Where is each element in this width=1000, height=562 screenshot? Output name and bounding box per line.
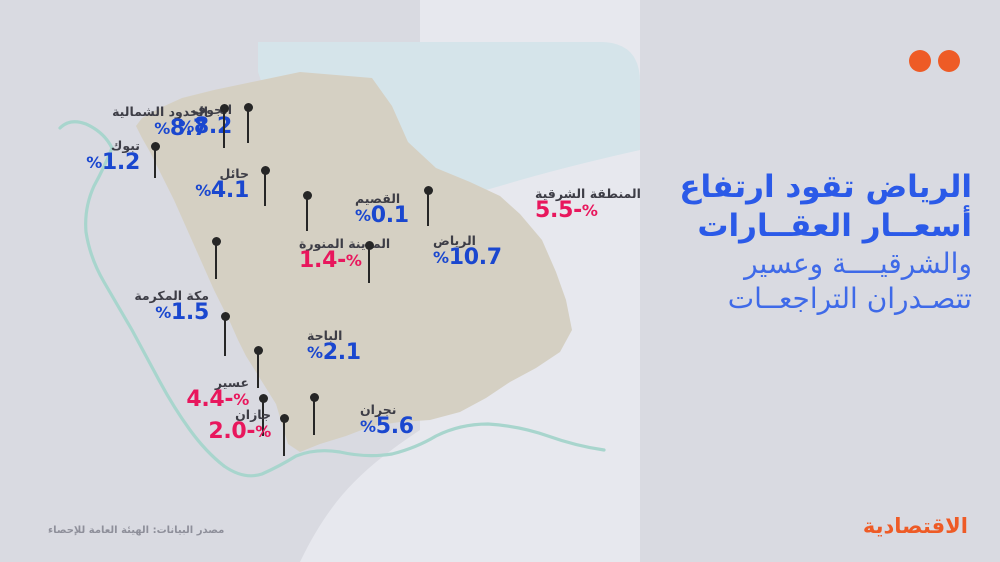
pin-head-icon <box>303 191 312 200</box>
pin-stem-icon <box>247 107 249 143</box>
region-value: %2.1 <box>307 342 361 364</box>
region-number: 0.1 <box>371 203 409 228</box>
region-number: -1.4 <box>299 248 346 273</box>
pin-head-icon <box>424 186 433 195</box>
region-label-8: مكة المكرمة%1.5 <box>0 290 209 324</box>
saudi-arabia-map <box>0 0 640 562</box>
region-label-11: جازان%-2.0 <box>0 409 271 443</box>
pin-stem-icon <box>264 170 266 206</box>
brand-logo: الاقتصادية <box>863 514 968 538</box>
pin-stem-icon <box>368 245 370 283</box>
region-number: 10.7 <box>449 245 502 270</box>
pin-stem-icon <box>223 108 225 148</box>
percent-sign: % <box>355 206 371 225</box>
percent-sign: % <box>154 119 170 138</box>
pin-head-icon <box>212 237 221 246</box>
region-value: %8.7 <box>0 118 208 140</box>
region-label-6: المدينة المنورة%-1.4 <box>299 238 390 272</box>
region-label-10: عسير%-4.4 <box>0 377 249 411</box>
percent-sign: % <box>195 181 211 200</box>
headline-line-3: والشرقيــــة وعسير <box>612 246 972 281</box>
source-attribution: مصدر البيانات: الهيئة العامة للإحصاء <box>48 525 224 536</box>
pin-head-icon <box>280 414 289 423</box>
headline-line-4: تتصـدران التراجعــات <box>612 281 972 316</box>
percent-sign: % <box>582 201 598 220</box>
percent-sign: % <box>307 343 323 362</box>
region-number: 2.1 <box>323 340 361 365</box>
region-label-3: حائل%4.1 <box>0 168 249 202</box>
percent-sign: % <box>255 422 271 441</box>
region-number: -2.0 <box>208 419 255 444</box>
region-value: %5.6 <box>360 416 414 438</box>
pin-head-icon <box>244 103 253 112</box>
headline-line-2: أسعــار العقــارات <box>612 207 972 246</box>
region-number: -5.5 <box>535 198 582 223</box>
region-number: 1.5 <box>171 300 209 325</box>
percent-sign: % <box>360 417 376 436</box>
percent-sign: % <box>155 303 171 322</box>
headline: الرياض تقود ارتفاعأسعــار العقــاراتوالش… <box>612 168 972 317</box>
pin-head-icon <box>259 394 268 403</box>
region-value: %4.1 <box>0 180 249 202</box>
dot-2 <box>909 50 931 72</box>
region-label-1: الحدود الشمالية%8.7 <box>0 106 208 140</box>
region-value: %0.1 <box>355 205 409 227</box>
region-value: %-2.0 <box>0 421 271 443</box>
pin-stem-icon <box>257 350 259 388</box>
decorative-dots <box>909 50 960 72</box>
region-value: %10.7 <box>433 247 502 269</box>
percent-sign: % <box>433 248 449 267</box>
pin-stem-icon <box>224 316 226 356</box>
region-label-4: القصيم%0.1 <box>355 193 409 227</box>
region-number: -4.4 <box>186 387 233 412</box>
pin-stem-icon <box>313 397 315 435</box>
pin-stem-icon <box>306 195 308 231</box>
pin-head-icon <box>310 393 319 402</box>
pin-stem-icon <box>427 190 429 226</box>
pin-head-icon <box>151 142 160 151</box>
pin-head-icon <box>254 346 263 355</box>
pin-stem-icon <box>215 241 217 279</box>
infographic-canvas: الجوف%8.2الحدود الشمالية%8.7تبوك%1.2حائل… <box>0 0 1000 562</box>
region-label-12: نجران%5.6 <box>360 404 414 438</box>
pin-head-icon <box>221 312 230 321</box>
region-value: %-4.4 <box>0 389 249 411</box>
map-svg <box>0 0 640 562</box>
percent-sign: % <box>233 390 249 409</box>
percent-sign: % <box>346 251 362 270</box>
region-label-9: الباحة%2.1 <box>307 330 361 364</box>
region-label-7: الرياض%10.7 <box>433 235 502 269</box>
pin-head-icon <box>261 166 270 175</box>
region-number: 5.6 <box>376 414 414 439</box>
pin-head-icon <box>220 104 229 113</box>
pin-head-icon <box>365 241 374 250</box>
pin-stem-icon <box>283 418 285 456</box>
dot-1 <box>938 50 960 72</box>
region-value: %1.5 <box>0 302 209 324</box>
headline-line-1: الرياض تقود ارتفاع <box>612 168 972 207</box>
region-value: %-1.4 <box>299 250 390 272</box>
region-number: 8.7 <box>170 116 208 141</box>
region-number: 4.1 <box>211 178 249 203</box>
